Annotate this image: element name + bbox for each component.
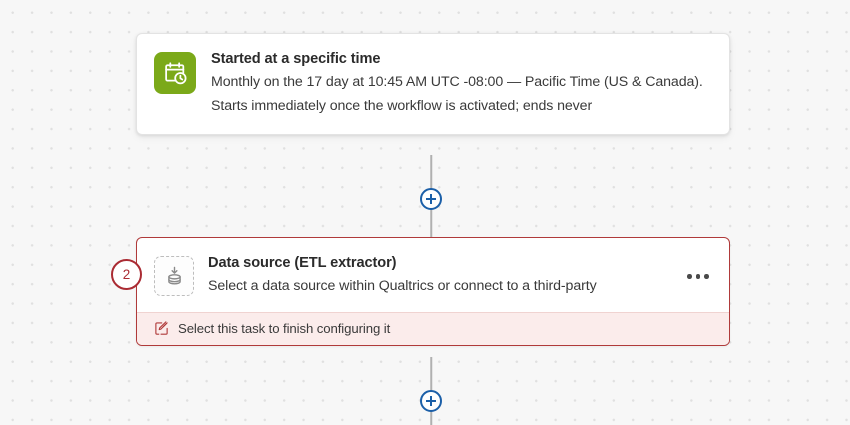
task-card-error-footer[interactable]: Select this task to finish configuring i… (137, 312, 729, 345)
task-card-data-source[interactable]: Data source (ETL extractor) Select a dat… (136, 237, 730, 346)
kebab-dot-1 (687, 274, 692, 279)
workflow-canvas[interactable]: Started at a specific time Monthly on th… (0, 0, 850, 425)
kebab-dot-2 (696, 274, 701, 279)
database-download-icon (154, 256, 194, 296)
trigger-card-title: Started at a specific time (211, 50, 707, 69)
add-step-button-bottom[interactable]: + (420, 390, 442, 412)
kebab-menu-icon[interactable] (685, 270, 711, 283)
trigger-card-row: Started at a specific time Monthly on th… (154, 50, 711, 118)
task-card-text: Data source (ETL extractor) Select a dat… (208, 254, 711, 299)
trigger-card-description: Monthly on the 17 day at 10:45 AM UTC -0… (211, 71, 707, 118)
add-step-button-top[interactable]: + (420, 188, 442, 210)
task-step-badge: 2 (111, 259, 142, 290)
calendar-clock-icon (154, 52, 196, 94)
trigger-card[interactable]: Started at a specific time Monthly on th… (136, 33, 730, 135)
edit-pencil-icon (154, 321, 169, 336)
kebab-dot-3 (704, 274, 709, 279)
task-card-description: Select a data source within Qualtrics or… (208, 275, 640, 299)
task-card-error-text: Select this task to finish configuring i… (178, 320, 390, 337)
task-card-title: Data source (ETL extractor) (208, 254, 707, 273)
trigger-card-text: Started at a specific time Monthly on th… (211, 50, 711, 118)
task-card-body: Data source (ETL extractor) Select a dat… (137, 238, 729, 312)
